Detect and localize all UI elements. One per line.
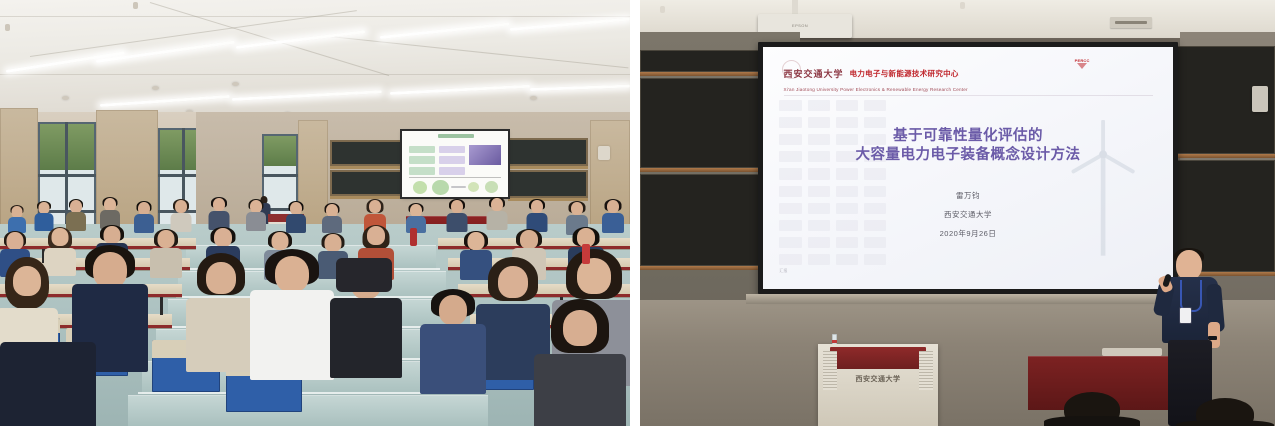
mini-slide-divider	[409, 177, 500, 178]
ceiling-speaker	[530, 96, 537, 100]
foreground-audience-shoulders	[1176, 420, 1274, 426]
audience-member	[186, 254, 256, 366]
blackboard	[640, 50, 760, 72]
percc-logo: PERCC	[1075, 58, 1090, 69]
chalk-rail	[640, 72, 764, 76]
audience-member	[134, 202, 154, 232]
ceiling-speaker	[232, 82, 239, 86]
ceiling-panel-seam	[0, 74, 630, 75]
audience-member	[486, 198, 507, 229]
audience-member	[534, 300, 626, 426]
mini-slide-image	[469, 145, 501, 165]
research-center-name-cn: 电力电子与新能源技术研究中心	[850, 68, 959, 79]
audience-member	[150, 230, 182, 276]
podium-vent	[823, 351, 837, 390]
projection-screen: 西安交通大学 电力电子与新能源技术研究中心 PERCC Xi'an Jiaoto…	[763, 47, 1173, 289]
audience-member	[446, 200, 467, 231]
mini-slide-box	[409, 156, 434, 164]
mini-slide-box	[439, 146, 464, 154]
slide-presenter-block: 雷万钧 西安交通大学 2020年9月26日	[763, 187, 1173, 243]
audience-member	[66, 200, 86, 230]
audience-member	[250, 250, 334, 374]
audience-member	[322, 204, 342, 232]
front-projection-screen	[402, 131, 508, 197]
sprinkler-head	[960, 2, 965, 9]
slide-title: 基于可靠性量化评估的 大容量电力电子装备概念设计方法	[763, 127, 1173, 166]
chalk-rail	[330, 166, 402, 169]
chalk-rail	[640, 266, 768, 270]
audience-member	[0, 332, 96, 426]
water-bottle	[582, 244, 590, 264]
mini-slide-title	[438, 134, 474, 138]
presenter-name: 雷万钧	[763, 187, 1173, 206]
audience-member	[602, 200, 624, 232]
mini-slide-node	[413, 181, 428, 194]
wall-speaker	[598, 146, 610, 160]
desk-leg	[160, 297, 163, 315]
podium-vent	[919, 351, 933, 390]
presenter-affiliation: 西安交通大学	[763, 206, 1173, 225]
slide-header-rule	[784, 95, 1153, 96]
podium: 西安交通大学	[818, 344, 938, 426]
wall-speaker	[1252, 86, 1268, 112]
two-photo-composite: EPSON	[0, 0, 1275, 426]
blackboard	[640, 78, 762, 168]
projection-screen-frame: 西安交通大学 电力电子与新能源技术研究中心 PERCC Xi'an Jiaoto…	[758, 42, 1178, 294]
mini-slide-node	[485, 181, 499, 194]
university-seal-icon	[782, 60, 801, 79]
mini-slide-box	[409, 167, 434, 175]
blackboard	[640, 174, 764, 266]
mini-slide-node	[432, 180, 449, 195]
wall-sign	[1110, 17, 1152, 28]
slide-header-english: Xi'an Jiaotong University Power Electron…	[784, 87, 968, 92]
audience-member	[100, 198, 120, 228]
audience-member	[420, 290, 486, 390]
mini-slide-node	[468, 182, 480, 193]
audience-member	[526, 200, 547, 231]
photo-divider	[630, 0, 640, 426]
slide-header-logo: 西安交通大学 电力电子与新能源技术研究中心	[784, 59, 959, 88]
slide-title-line-2: 大容量电力电子装备概念设计方法	[763, 146, 1173, 166]
aisle-step	[128, 396, 488, 426]
percc-mark-label: PERCC	[1075, 58, 1090, 63]
slide-corner-note: 汇报	[779, 268, 787, 274]
blackboard-left	[330, 170, 402, 196]
speaker-slide-photo: EPSON	[640, 0, 1275, 426]
sprinkler-head	[5, 24, 10, 31]
audience-member	[8, 206, 26, 232]
chalk-rail	[508, 166, 588, 169]
mini-slide-box	[409, 146, 434, 154]
podium-top-panel	[830, 347, 926, 368]
audience-member	[170, 200, 191, 231]
presenter-head	[1176, 250, 1202, 280]
blackboard-right	[508, 138, 588, 166]
blackboard-right	[508, 170, 588, 198]
presentation-date: 2020年9月26日	[763, 225, 1173, 244]
desk-papers	[1102, 348, 1162, 356]
screen-bottom-bar	[746, 294, 1190, 304]
sprinkler-head	[133, 2, 138, 9]
ceiling	[0, 0, 630, 122]
water-bottle	[410, 228, 417, 246]
blackboard-left	[330, 140, 402, 166]
backpack	[336, 258, 392, 292]
audience-member	[286, 202, 306, 232]
mini-slide-box	[439, 167, 464, 175]
mini-slide-box	[439, 156, 464, 164]
chalk-rail	[330, 196, 402, 199]
podium-emblem: 西安交通大学	[856, 374, 901, 384]
ceiling-speaker	[152, 86, 159, 90]
projected-slide	[402, 131, 508, 197]
ceiling-speaker	[62, 96, 69, 100]
name-badge	[1180, 308, 1191, 323]
chalk-rail	[640, 168, 766, 172]
audience-member	[208, 198, 229, 229]
audience-member	[34, 202, 53, 230]
lecture-hall-photo	[0, 0, 630, 426]
sprinkler-head	[660, 6, 665, 13]
title-slide: 西安交通大学 电力电子与新能源技术研究中心 PERCC Xi'an Jiaoto…	[763, 47, 1173, 289]
audience-member	[246, 200, 266, 230]
percc-triangle-icon	[1077, 63, 1087, 69]
foreground-audience-shoulders	[1044, 416, 1140, 426]
slide-title-line-1: 基于可靠性量化评估的	[763, 127, 1173, 147]
